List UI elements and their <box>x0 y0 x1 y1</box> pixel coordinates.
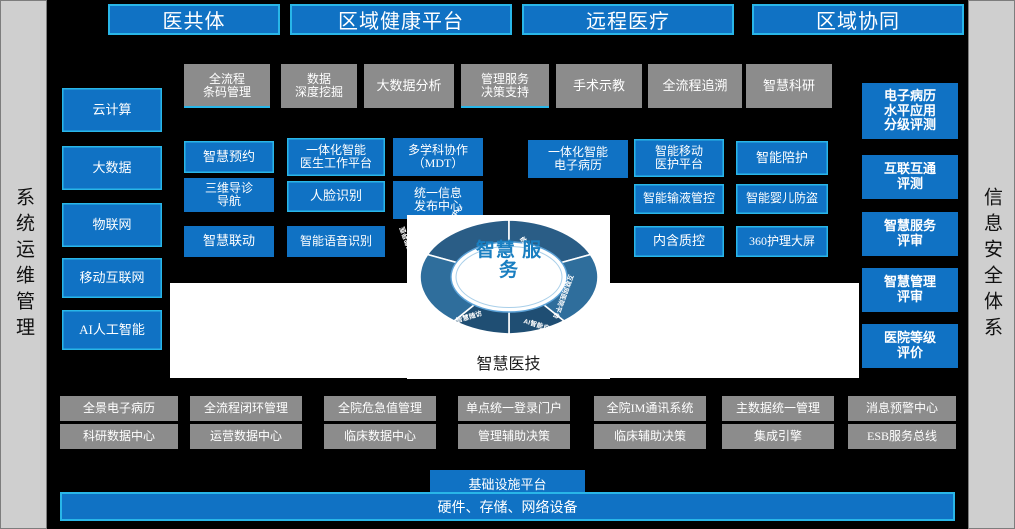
analytics-box-5[interactable]: 全流程追溯 <box>648 64 742 108</box>
infra-box-3[interactable]: 移动互联网 <box>62 258 162 298</box>
platform-box-r0-c1[interactable]: 全流程闭环管理 <box>190 396 302 421</box>
analytics-box-4[interactable]: 手术示教 <box>556 64 642 108</box>
infra-box-2[interactable]: 物联网 <box>62 203 162 247</box>
smart-care-box-5[interactable]: 智能婴儿防盗 <box>736 184 828 214</box>
smart-care-box-3[interactable]: 内含质控 <box>634 226 724 257</box>
architecture-diagram: 医共体区域健康平台远程医疗区域协同 系统运维管理 信息安全体系 云计算大数据物联… <box>0 0 1015 529</box>
analytics-box-2[interactable]: 大数据分析 <box>364 64 454 108</box>
platform-box-r0-c2[interactable]: 全院危急值管理 <box>324 396 436 421</box>
platform-box-r1-c4[interactable]: 临床辅助决策 <box>594 424 706 449</box>
smart-tech-caption: 智慧医技 <box>407 350 610 374</box>
header-tab-2[interactable]: 远程医疗 <box>522 4 734 35</box>
hardware-storage-network-bar: 硬件、存储、网络设备 <box>60 492 955 521</box>
smart-care-box-4[interactable]: 智能陪护 <box>736 141 828 175</box>
platform-box-r0-c4[interactable]: 全院IM通讯系统 <box>594 396 706 421</box>
evaluation-box-3[interactable]: 智慧管理 评审 <box>862 268 958 312</box>
platform-box-r0-c0[interactable]: 全景电子病历 <box>60 396 178 421</box>
platform-box-r1-c5[interactable]: 集成引擎 <box>722 424 834 449</box>
smart-service-box-0[interactable]: 智慧预约 <box>184 141 274 173</box>
header-tab-0[interactable]: 医共体 <box>108 4 280 35</box>
infra-box-0[interactable]: 云计算 <box>62 88 162 132</box>
smart-service-box-5[interactable]: 智能语音识别 <box>287 226 385 257</box>
smart-service-box-1[interactable]: 三维导诊 导航 <box>184 178 274 212</box>
evaluation-box-1[interactable]: 互联互通 评测 <box>862 155 958 199</box>
infra-box-1[interactable]: 大数据 <box>62 146 162 190</box>
platform-box-r1-c2[interactable]: 临床数据中心 <box>324 424 436 449</box>
evaluation-box-4[interactable]: 医院等级 评价 <box>862 324 958 368</box>
infra-box-4[interactable]: AI人工智能 <box>62 310 162 350</box>
analytics-box-1[interactable]: 数据 深度挖掘 <box>281 64 357 108</box>
left-rail-system-ops: 系统运维管理 <box>0 0 47 529</box>
platform-box-r1-c0[interactable]: 科研数据中心 <box>60 424 178 449</box>
right-rail-info-security: 信息安全体系 <box>968 0 1015 529</box>
smart-service-box-3[interactable]: 一体化智能 医生工作平台 <box>287 138 385 176</box>
smart-care-box-2[interactable]: 智能输液管控 <box>634 184 724 214</box>
platform-box-r0-c5[interactable]: 主数据统一管理 <box>722 396 834 421</box>
right-rail-label: 信息安全体系 <box>978 187 1005 343</box>
analytics-box-0[interactable]: 全流程 条码管理 <box>184 64 270 108</box>
analytics-box-3[interactable]: 管理服务 决策支持 <box>461 64 549 108</box>
evaluation-box-2[interactable]: 智慧服务 评审 <box>862 212 958 256</box>
smart-care-box-6[interactable]: 360护理大屏 <box>736 226 828 257</box>
evaluation-box-0[interactable]: 电子病历 水平应用 分级评测 <box>862 83 958 139</box>
platform-box-r1-c3[interactable]: 管理辅助决策 <box>458 424 570 449</box>
platform-box-r0-c3[interactable]: 单点统一登录门户 <box>458 396 570 421</box>
platform-box-r0-c6[interactable]: 消息预警中心 <box>848 396 956 421</box>
platform-box-r1-c1[interactable]: 运营数据中心 <box>190 424 302 449</box>
platform-box-r1-c6[interactable]: ESB服务总线 <box>848 424 956 449</box>
smart-service-box-2[interactable]: 智慧联动 <box>184 226 274 257</box>
left-rail-label: 系统运维管理 <box>10 187 37 343</box>
bottom-bar-label: 硬件、存储、网络设备 <box>438 497 578 517</box>
smart-care-box-0[interactable]: 一体化智能 电子病历 <box>528 140 628 178</box>
header-tab-3[interactable]: 区域协同 <box>752 4 964 35</box>
smart-service-box-4[interactable]: 人脸识别 <box>287 181 385 212</box>
smart-service-box-6[interactable]: 多学科协作 （MDT） <box>393 138 483 176</box>
donut-center-label: 智慧 服务 <box>472 241 546 281</box>
analytics-box-6[interactable]: 智慧科研 <box>746 64 832 108</box>
smart-care-box-1[interactable]: 智能移动 医护平台 <box>634 139 724 177</box>
smart-service-box-7[interactable]: 统一信息 发布中心 <box>393 181 483 219</box>
header-tab-1[interactable]: 区域健康平台 <box>290 4 512 35</box>
